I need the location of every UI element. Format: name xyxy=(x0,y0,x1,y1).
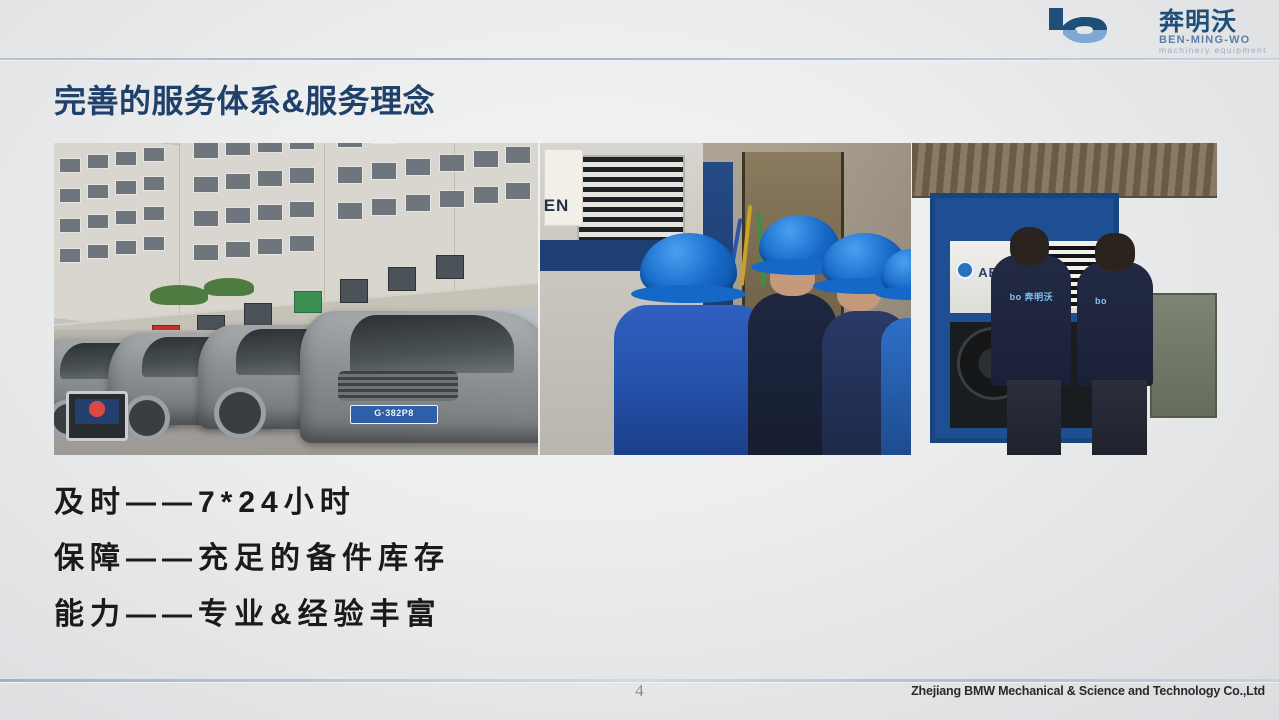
company-logo: 奔明沃 BEN-MING-WO machinery equipment xyxy=(1041,4,1267,56)
machine-louver xyxy=(577,155,685,246)
wall-sign xyxy=(340,279,368,303)
car-wheel xyxy=(214,387,266,439)
header-divider-highlight xyxy=(0,60,1279,61)
wall-sign xyxy=(388,267,416,291)
wall-sign xyxy=(294,291,322,313)
worker-legs xyxy=(1007,380,1062,455)
machine-brand-text: EN xyxy=(544,196,570,216)
license-plate: G·382P8 xyxy=(350,405,438,424)
worker-legs xyxy=(1092,380,1147,455)
technician-right xyxy=(1077,262,1153,387)
photo-strip: G·382P8 EN xyxy=(54,143,1217,455)
service-tablet xyxy=(66,391,128,441)
side-container xyxy=(1150,293,1217,418)
service-principle-line: 保障——充足的备件库存 xyxy=(54,531,754,587)
technician-left xyxy=(991,255,1070,386)
service-principle-line: 及时——7*24小时 xyxy=(54,475,754,531)
uniform-logo: bo 奔明沃 xyxy=(1010,290,1054,303)
photo-fleet-of-service-cars: G·382P8 xyxy=(54,143,538,455)
service-principles-list: 及时——7*24小时 保障——充足的备件库存 能力——专业&经验丰富 xyxy=(54,475,754,643)
worker-head xyxy=(1095,233,1135,270)
photo-aerzen-unit-maintenance: AERZEN bo 奔明沃 bo xyxy=(912,143,1217,455)
logo-monogram-icon xyxy=(1049,8,1107,43)
page-title: 完善的服务体系&服务理念 xyxy=(54,76,435,122)
technician-far-right xyxy=(881,318,911,455)
photo-technicians-servicing-blower: EN xyxy=(540,143,911,455)
uniform-logo: bo xyxy=(1095,296,1107,306)
footer-company-name: Zhejiang BMW Mechanical & Science and Te… xyxy=(911,684,1265,698)
logo-tagline: machinery equipment xyxy=(1159,45,1267,55)
shrub xyxy=(150,285,208,305)
car-grille xyxy=(338,371,458,401)
technician-blue-jacket xyxy=(614,305,770,455)
corrugated-roof xyxy=(912,143,1217,198)
service-principle-line: 能力——专业&经验丰富 xyxy=(54,587,754,643)
car-windshield xyxy=(350,315,514,373)
shrub xyxy=(204,278,254,296)
logo-svg: 奔明沃 BEN-MING-WO machinery equipment xyxy=(1041,4,1267,56)
logo-chinese-name: 奔明沃 xyxy=(1159,8,1237,36)
presentation-slide: 奔明沃 BEN-MING-WO machinery equipment 完善的服… xyxy=(0,0,1279,720)
worker-head xyxy=(1010,227,1050,264)
wall-sign xyxy=(436,255,464,279)
car-wheel xyxy=(124,395,170,441)
